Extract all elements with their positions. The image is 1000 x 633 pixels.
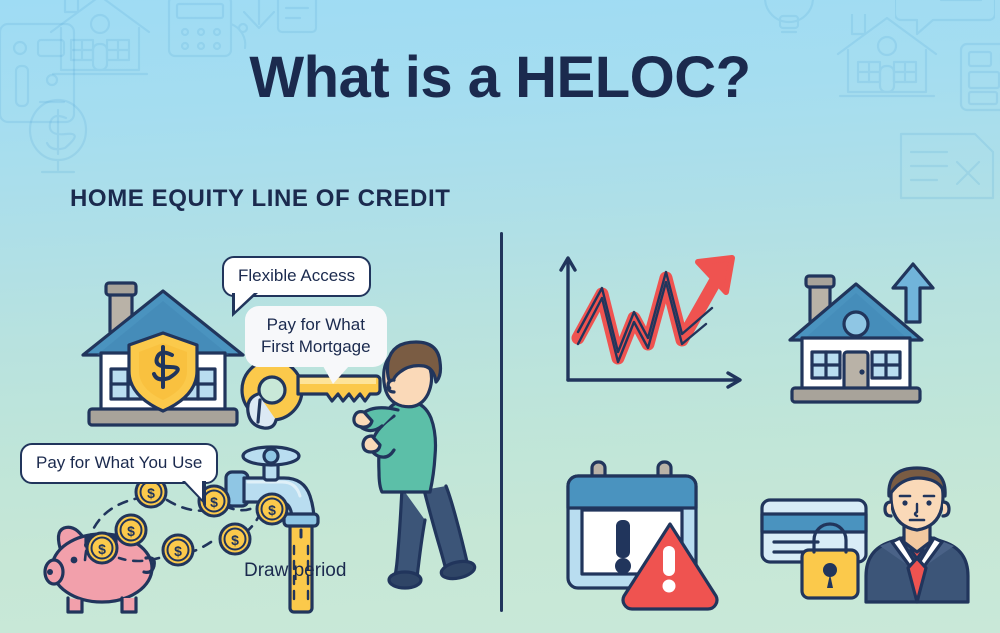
bubble-tail [323, 366, 349, 384]
draw-period-caption: Draw period [244, 560, 346, 582]
coin: $ [163, 535, 193, 565]
watermark-lightbulb-icon [754, 0, 824, 38]
rising-trend-chart-icon [556, 252, 756, 412]
watermark-signed-document-icon [895, 128, 999, 204]
bubble-line-1: Pay for What [261, 314, 371, 336]
svg-text:$: $ [231, 532, 239, 548]
coin: $ [116, 515, 146, 545]
bubble-flexible-access: Flexible Access [222, 256, 371, 297]
bubble-pay-for-what-you-use: Pay for What You Use [20, 443, 218, 484]
svg-text:$: $ [98, 541, 106, 557]
svg-text:$: $ [268, 502, 276, 518]
svg-text:$: $ [210, 494, 218, 510]
bubble-flexible-access-text: Flexible Access [238, 266, 355, 285]
svg-text:$: $ [174, 543, 182, 559]
bubble-line-2: First Mortgage [261, 336, 371, 358]
bubble-pay-for-what-you-use-text: Pay for What You Use [36, 453, 202, 472]
svg-text:$: $ [127, 523, 135, 539]
heloc-infographic: What is a HELOC? HOME EQUITY LINE OF CRE… [0, 0, 1000, 633]
page-subtitle: HOME EQUITY LINE OF CREDIT [70, 185, 451, 213]
svg-text:$: $ [147, 485, 155, 501]
house-with-shield-icon [73, 275, 253, 435]
house-value-up-icon [788, 262, 953, 412]
bubble-pay-for-what-first-mortgage: Pay for What First Mortgage [245, 306, 387, 367]
vertical-divider [500, 232, 503, 612]
page-title: What is a HELOC? [0, 44, 1000, 111]
bubble-tail-inner [185, 481, 202, 499]
coin: $ [220, 524, 250, 554]
calendar-warning-icon [558, 458, 738, 608]
watermark-list-icon [272, 0, 322, 40]
coin: $ [257, 494, 287, 524]
advisor-person-icon [856, 466, 978, 606]
person-holding-key-icon [358, 340, 488, 590]
coin: $ [87, 533, 117, 563]
